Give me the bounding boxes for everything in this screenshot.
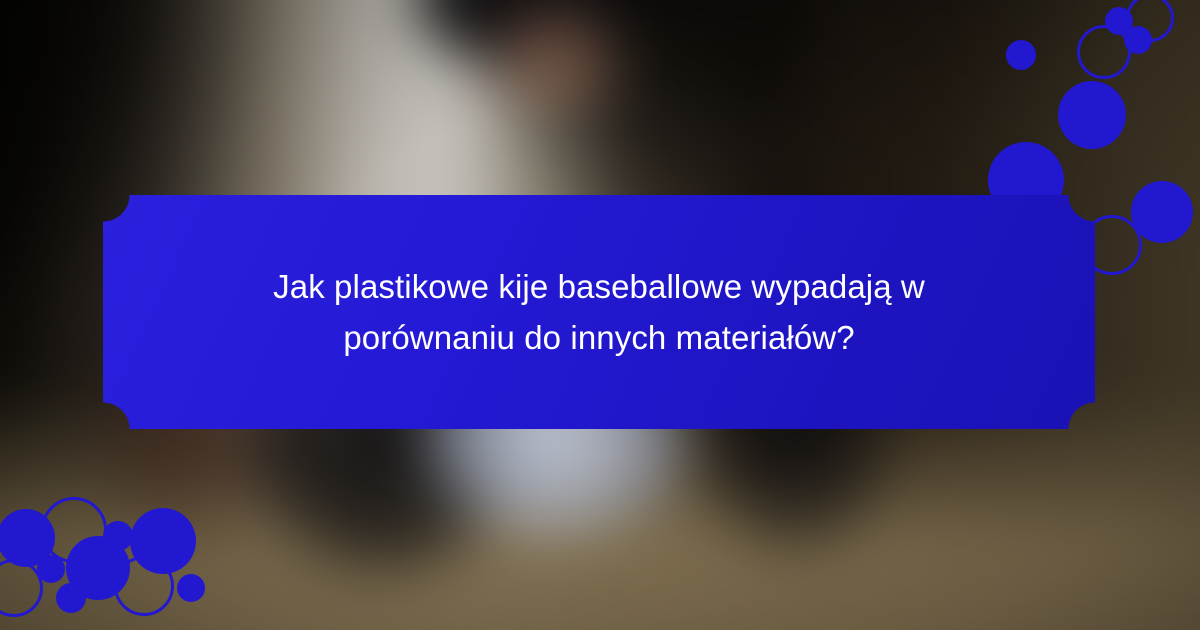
social-share-card: Jak plastikowe kije baseballowe wypadają… <box>0 0 1200 630</box>
headline-banner: Jak plastikowe kije baseballowe wypadają… <box>103 195 1095 429</box>
headline-text: Jak plastikowe kije baseballowe wypadają… <box>195 261 1003 364</box>
